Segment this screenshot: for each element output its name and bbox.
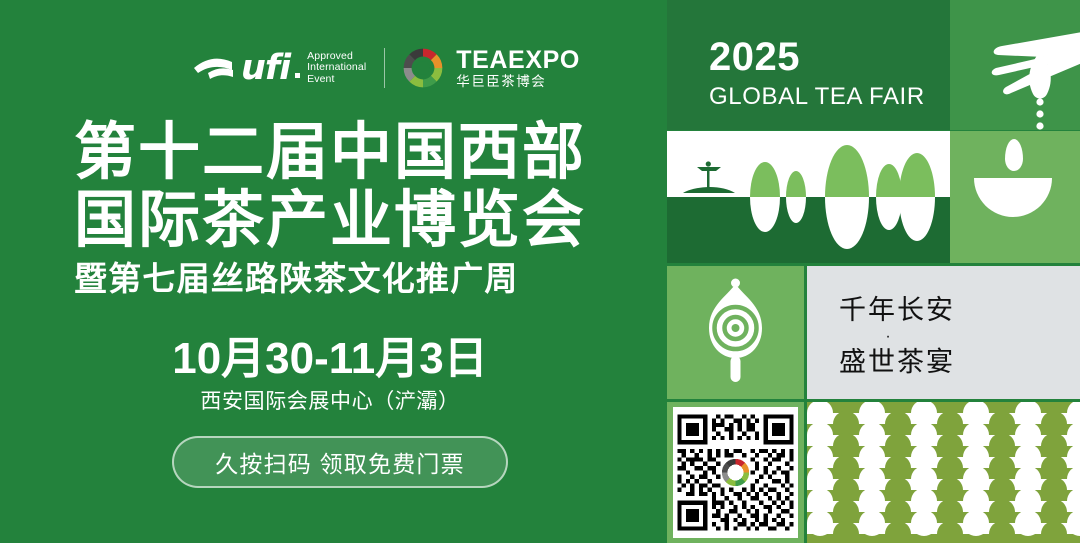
qr-code[interactable]	[673, 407, 798, 538]
tea-leaves-icon	[667, 131, 950, 263]
headline-line-3: 暨第七届丝路陕茶文化推广周	[74, 255, 614, 303]
event-venue: 西安国际会展中心（浐灞）	[0, 388, 660, 416]
slogan-separator-dot: ·	[839, 332, 939, 342]
wave-pattern-icon	[807, 402, 1080, 543]
headline: 第十二届中国西部 国际茶产业博览会 暨第七届丝路陕茶文化推广周	[74, 119, 614, 303]
ufi-tagline: Approved International Event	[307, 51, 366, 86]
boat-silhouette-icon	[683, 161, 735, 193]
kettle-icon	[667, 266, 804, 399]
headline-line-1: 第十二届中国西部	[74, 119, 614, 187]
ufi-dot	[295, 73, 300, 78]
teaexpo-swirl-icon	[401, 46, 445, 90]
logo-divider	[384, 48, 385, 88]
right-panel: 2025 GLOBAL TEA FAIR	[660, 0, 1080, 543]
tea-bowl-block	[950, 131, 1080, 263]
slogan-line-1: 千年长安	[839, 295, 955, 325]
poster-banner: ufi Approved International Event	[0, 0, 1080, 543]
pouring-spout-block	[950, 0, 1080, 130]
slogan-line-2: 盛世茶宴	[839, 347, 955, 377]
tea-leaves-strip	[667, 131, 950, 263]
year-title-block: 2025 GLOBAL TEA FAIR	[667, 0, 950, 130]
qr-block[interactable]	[667, 402, 804, 543]
fair-subtitle: GLOBAL TEA FAIR	[709, 84, 925, 110]
left-panel: ufi Approved International Event	[0, 0, 660, 543]
teapot-pouring-icon	[950, 24, 1080, 130]
logo-row: ufi Approved International Event	[192, 44, 580, 92]
teaexpo-name-en: TEAEXPO	[456, 47, 580, 73]
teaexpo-logo: TEAEXPO 华巨臣茶博会	[401, 46, 580, 90]
wave-pattern-block	[807, 402, 1080, 543]
teaexpo-name-cn: 华巨臣茶博会	[456, 74, 580, 90]
slogan-block: 千年长安 · 盛世茶宴	[807, 266, 1080, 399]
ufi-flag-mark-icon	[192, 53, 254, 83]
ufi-tagline-line-3: Event	[307, 74, 366, 86]
headline-line-2: 国际茶产业博览会	[74, 187, 614, 255]
slogan-text: 千年长安 · 盛世茶宴	[839, 290, 955, 383]
year-label: 2025	[709, 36, 800, 78]
scan-qr-cta-button[interactable]: 久按扫码 领取免费门票	[172, 436, 508, 488]
tea-bowl-icon	[974, 178, 1052, 217]
tea-drop-icon	[1005, 139, 1023, 171]
kettle-block	[667, 266, 804, 399]
teaexpo-wordmark: TEAEXPO 华巨臣茶博会	[456, 47, 580, 90]
ufi-logo: ufi Approved International Event	[192, 45, 366, 91]
event-date: 10月30-11月3日	[0, 334, 660, 384]
